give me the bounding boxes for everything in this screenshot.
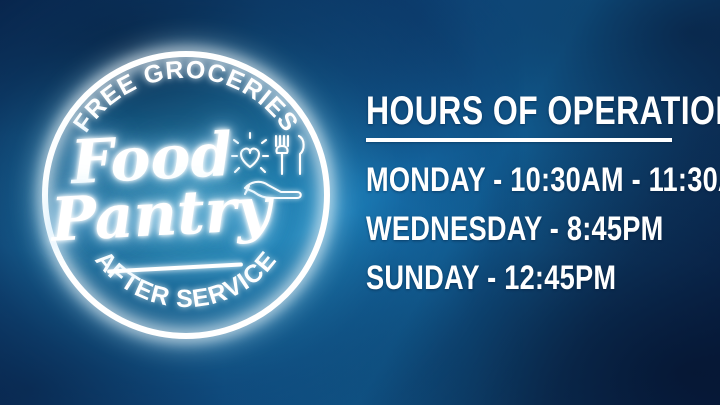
emblem-glow: [232, 133, 304, 198]
arc-bottom-text: AFTER SERVICE: [90, 246, 283, 313]
hours-panel: HOURS OF OPERATION MONDAY - 10:30AM - 11…: [366, 90, 696, 309]
heart-icon: [241, 149, 259, 167]
hours-title: HOURS OF OPERATION: [366, 90, 630, 132]
hours-row-monday: MONDAY - 10:30AM - 11:30AM: [366, 162, 630, 198]
fork-icon: [276, 136, 288, 174]
food-pantry-badge: FREE GROCERIES FREE GROCERIES AFTER SERV…: [41, 50, 331, 340]
hours-row-sunday: SUNDAY - 12:45PM: [366, 260, 630, 296]
hours-row-wednesday: WEDNESDAY - 8:45PM: [366, 211, 630, 247]
hours-title-underline: [366, 138, 672, 142]
open-hand-icon: [245, 182, 301, 198]
knife-icon: [299, 136, 304, 174]
arc-bottom-text-label: AFTER SERVICE: [90, 246, 283, 313]
emblem-heart-cutlery-hand: [232, 133, 304, 198]
slide-canvas: FREE GROCERIES FREE GROCERIES AFTER SERV…: [0, 0, 720, 405]
